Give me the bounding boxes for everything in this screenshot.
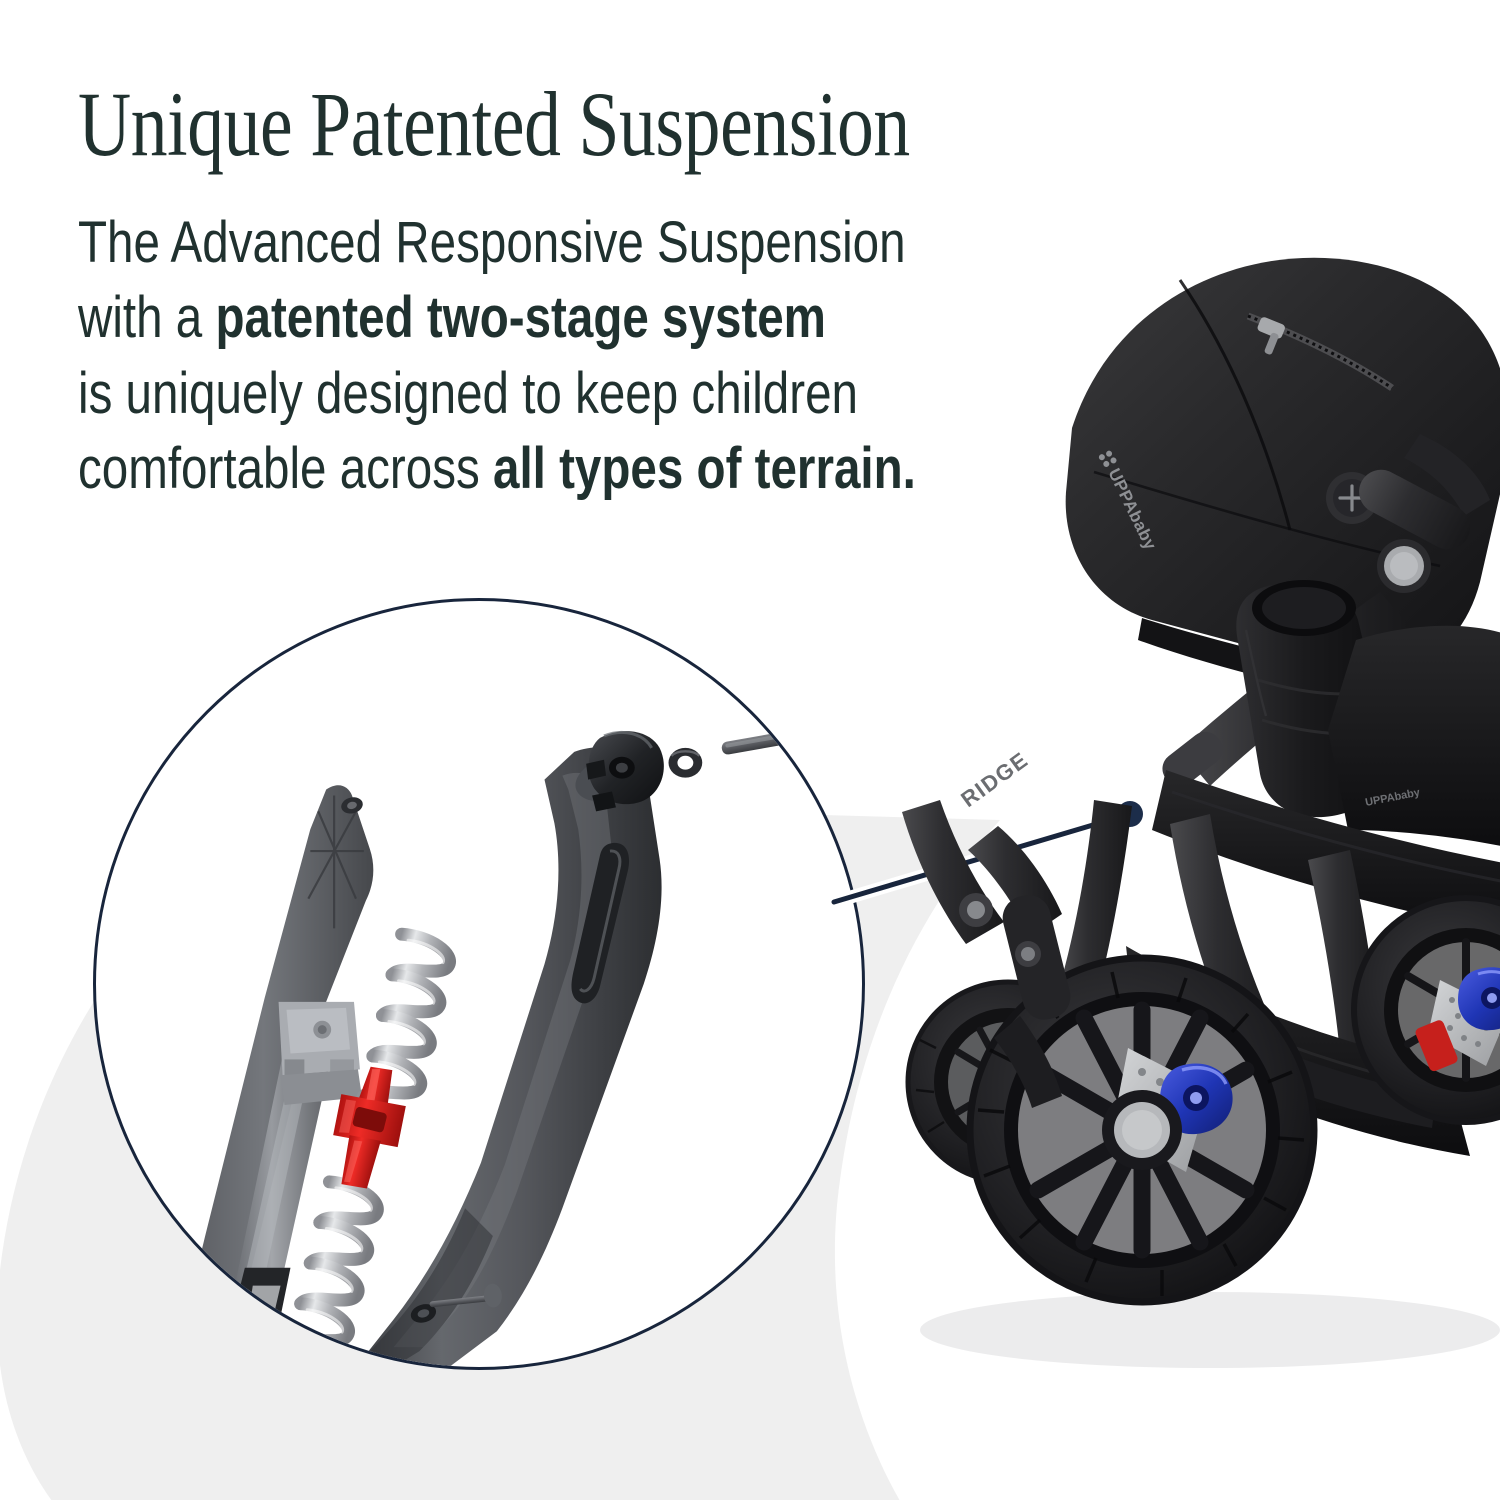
slider-block [279, 1002, 362, 1105]
front-wheel [970, 958, 1314, 1302]
model-badge-text: RIDGE [956, 747, 1033, 812]
marketing-image-canvas: Unique Patented Suspension The Advanced … [0, 0, 1500, 1500]
body-line-1: The Advanced Responsive Suspension [78, 205, 906, 280]
body-line-4: comfortable across all types of terrain. [78, 431, 906, 506]
handlebar-adjust-button[interactable] [1377, 539, 1431, 593]
suspension-detail-callout [93, 598, 865, 1370]
pivot-bushing [586, 731, 664, 811]
body-line-4-pre: comfortable across [78, 436, 493, 501]
model-badge: RIDGE [956, 747, 1033, 812]
body-line-2: with a patented two-stage system [78, 280, 906, 355]
body-line-3: is uniquely designed to keep children [78, 356, 906, 431]
stroller-product-image: UPPAbaby [880, 210, 1500, 1400]
body-copy: The Advanced Responsive Suspension with … [78, 205, 906, 507]
page-title: Unique Patented Suspension [78, 78, 910, 170]
exploded-suspension-diagram [96, 601, 862, 1367]
axle-bolt [718, 711, 815, 770]
lower-coil-spring [283, 1180, 387, 1358]
body-line-4-bold: all types of terrain. [493, 436, 916, 501]
body-line-2-pre: with a [78, 285, 215, 350]
washer [669, 748, 703, 778]
body-line-2-bold: patented two-stage system [215, 285, 826, 350]
